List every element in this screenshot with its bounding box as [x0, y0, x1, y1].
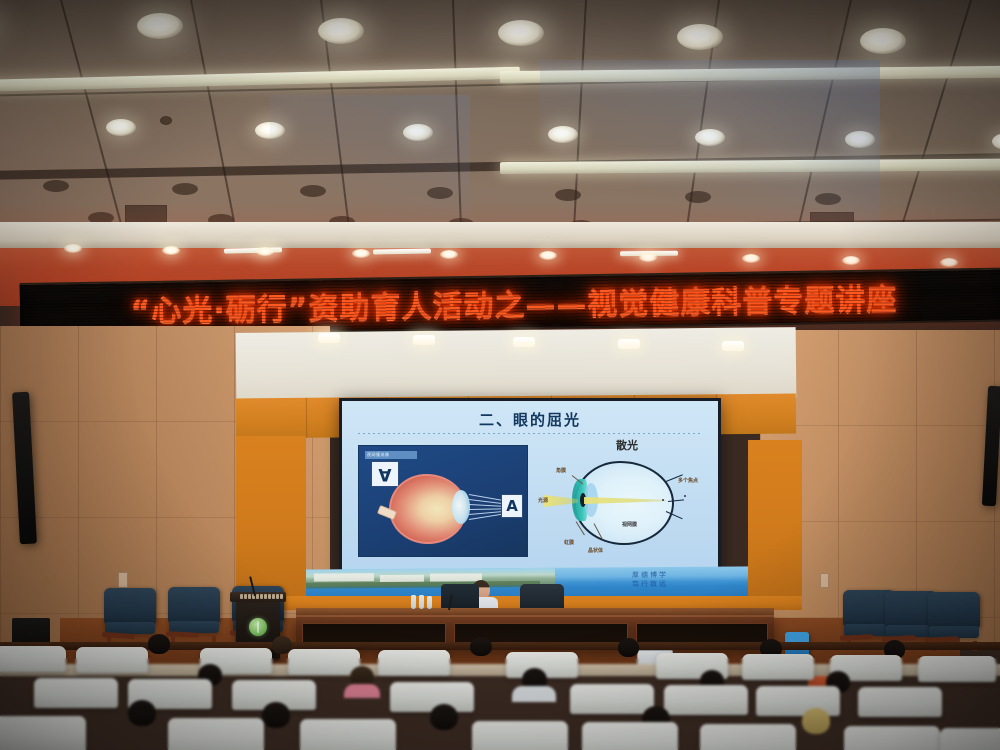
smoke-detector	[160, 116, 172, 125]
bulkhead-downlight	[722, 341, 744, 351]
cove-downlight	[162, 246, 180, 255]
audience-head	[470, 637, 492, 656]
audience-seat	[844, 726, 940, 750]
ceiling-downlight	[548, 126, 578, 143]
ceiling-downlight	[992, 133, 1000, 150]
audience-seat	[742, 654, 814, 680]
label-retina: 视网膜	[622, 521, 637, 528]
ceiling-downlight	[860, 28, 906, 54]
audience-seat	[918, 656, 996, 682]
ceiling-downlight	[106, 119, 136, 136]
object-letter: A	[501, 494, 523, 518]
eye-refraction-figure: 视网膜成像 A A	[358, 445, 528, 557]
focal-point	[662, 499, 664, 501]
backdrop-calligraphy: 厚德博学 笃行致远	[632, 571, 668, 589]
bulkhead-downlight	[618, 339, 640, 349]
lecture-hall-photo: “心光·砺行”资助育人活动之——视觉健康科普专题讲座 二、眼的屈光 视网膜成像	[0, 0, 1000, 750]
slide-divider	[358, 433, 702, 434]
cove-light-bar	[373, 248, 431, 254]
cove-downlight	[256, 247, 274, 256]
calligraphy-line-1: 厚德博学	[632, 571, 668, 580]
astigmatism-figure: 散光 角膜 光源 虹膜 晶状体 视网膜	[538, 435, 712, 559]
label-lens: 晶状体	[588, 547, 603, 554]
audience-seat	[700, 724, 796, 750]
ceiling-downlight	[695, 129, 725, 146]
ceiling-downlight	[845, 131, 875, 148]
label-cornea: 角膜	[556, 467, 566, 474]
bulkhead-downlight	[413, 335, 435, 345]
audience-seat	[0, 716, 86, 750]
astigmatism-title: 散光	[616, 437, 638, 453]
slide-title: 二、眼的屈光	[342, 409, 718, 430]
cove-downlight	[352, 249, 370, 258]
audience-seat	[940, 728, 1000, 750]
wall-outlet-plate	[118, 572, 128, 588]
audience-head	[128, 700, 156, 726]
backdrop-building	[314, 573, 374, 581]
stage-back-wall	[748, 440, 802, 606]
calligraphy-line-2: 笃行致远	[632, 580, 668, 589]
ceiling-downlight	[677, 24, 723, 50]
ceiling-downlight	[255, 122, 285, 139]
audience-head	[430, 704, 458, 730]
crystalline-lens	[452, 490, 470, 524]
ceiling-downlight	[318, 18, 364, 44]
ceiling-vent	[125, 205, 167, 223]
audience-seat	[756, 686, 840, 716]
cove-downlight	[539, 251, 557, 260]
label-iris: 虹膜	[564, 539, 574, 546]
water-bottle	[427, 596, 432, 609]
bulkhead-downlight	[513, 337, 535, 347]
focal-point	[684, 495, 686, 497]
audience-seat	[288, 649, 360, 675]
audience-seat	[570, 684, 654, 714]
projection-screen: 二、眼的屈光 视网膜成像 A A 散光	[339, 398, 721, 576]
soffit-face	[0, 222, 1000, 248]
bulkhead-downlight	[318, 333, 340, 343]
cove-downlight	[639, 253, 657, 262]
stage-back-wall	[236, 436, 306, 606]
cove-downlight	[940, 258, 958, 267]
cove-downlight	[842, 256, 860, 265]
audience-seat	[582, 722, 678, 750]
ceiling-downlight	[137, 13, 183, 39]
wall-outlet-plate	[820, 573, 829, 588]
audience-seat	[390, 682, 474, 712]
audience-seat	[300, 719, 396, 750]
audience-head	[618, 638, 639, 657]
audience-head	[262, 702, 290, 728]
audience-seat	[378, 650, 450, 676]
lectern-control-panel	[240, 594, 283, 599]
audience-head	[148, 634, 170, 654]
audience-seat	[858, 687, 942, 717]
retinal-image-letter: A	[371, 461, 399, 487]
ceiling-light-strip	[500, 65, 1000, 83]
label-light-source: 光源	[538, 497, 548, 504]
led-banner-text: “心光·砺行”资助育人活动之——视觉健康科普专题讲座	[20, 272, 1000, 332]
ceiling-downlight	[498, 20, 544, 46]
cove-downlight	[742, 254, 760, 263]
water-bottle	[411, 595, 416, 609]
ceiling-downlight	[403, 124, 433, 141]
presentation-slide: 二、眼的屈光 视网膜成像 A A 散光	[342, 401, 718, 573]
audience-head	[802, 708, 830, 734]
label-multiple-foci: 多个焦点	[678, 477, 698, 484]
audience-area	[0, 630, 1000, 750]
backdrop-treeline	[300, 581, 540, 589]
cove-downlight	[440, 250, 458, 259]
audience-shoulders	[344, 684, 380, 698]
audience-seat	[76, 647, 148, 673]
audience-seat	[34, 678, 118, 708]
audience-seat	[168, 718, 264, 750]
audience-shoulders	[512, 686, 556, 702]
cove-downlight	[64, 244, 82, 253]
audience-seat	[664, 685, 748, 715]
audience-seat	[0, 646, 66, 672]
audience-seat	[472, 721, 568, 750]
pointer-line	[668, 499, 684, 502]
figure-caption: 视网膜成像	[365, 451, 417, 459]
water-bottle	[419, 595, 424, 609]
